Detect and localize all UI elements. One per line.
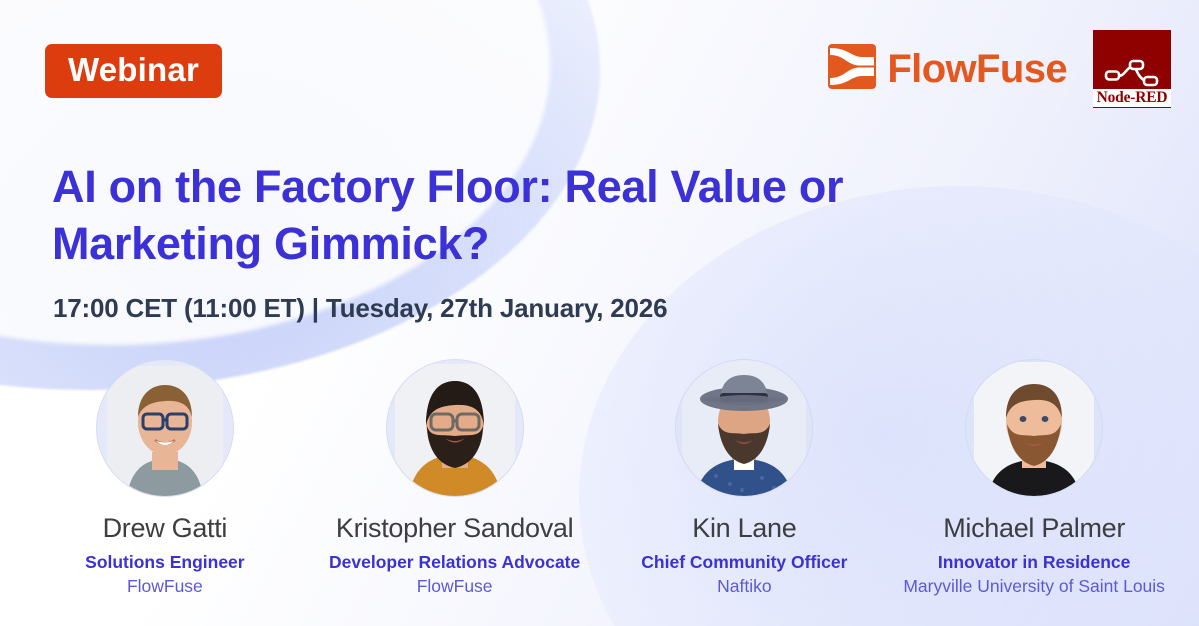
speaker-role: Developer Relations Advocate — [329, 552, 580, 572]
avatar-kin-lane — [676, 360, 812, 496]
speaker-org: Maryville University of Saint Louis — [903, 576, 1165, 596]
speaker-name: Kin Lane — [692, 514, 796, 544]
speaker-list: Drew Gatti Solutions Engineer FlowFuse — [0, 360, 1199, 596]
avatar-drew-gatti — [97, 360, 233, 496]
speaker-role: Innovator in Residence — [938, 552, 1131, 572]
speaker-org: FlowFuse — [127, 576, 203, 596]
speaker-card: Kristopher Sandoval Developer Relations … — [319, 360, 591, 596]
speaker-card: Kin Lane Chief Community Officer Naftiko — [608, 360, 880, 596]
avatar-kristopher-sandoval — [387, 360, 523, 496]
node-red-wordmark: Node-RED — [1093, 89, 1171, 107]
logo-group: FlowFuse Node-RED — [828, 30, 1171, 108]
avatar-michael-palmer — [966, 360, 1102, 496]
event-datetime: 17:00 CET (11:00 ET) | Tuesday, 27th Jan… — [53, 293, 667, 324]
speaker-role: Chief Community Officer — [641, 552, 847, 572]
speaker-name: Michael Palmer — [943, 514, 1125, 544]
page-title: AI on the Factory Floor: Real Value or M… — [52, 158, 1062, 272]
speaker-card: Michael Palmer Innovator in Residence Ma… — [898, 360, 1170, 596]
flowfuse-wordmark: FlowFuse — [887, 49, 1067, 89]
speaker-org: FlowFuse — [417, 576, 493, 596]
webinar-promo-card: Webinar FlowFuse — [0, 0, 1199, 626]
node-red-logo: Node-RED — [1093, 30, 1171, 108]
speaker-role: Solutions Engineer — [85, 552, 244, 572]
webinar-badge: Webinar — [45, 44, 222, 98]
flowfuse-mark-icon — [828, 44, 876, 94]
speaker-card: Drew Gatti Solutions Engineer FlowFuse — [29, 360, 301, 596]
flowfuse-logo: FlowFuse — [828, 44, 1067, 94]
speaker-name: Kristopher Sandoval — [336, 514, 573, 544]
speaker-org: Naftiko — [717, 576, 771, 596]
speaker-name: Drew Gatti — [103, 514, 228, 544]
